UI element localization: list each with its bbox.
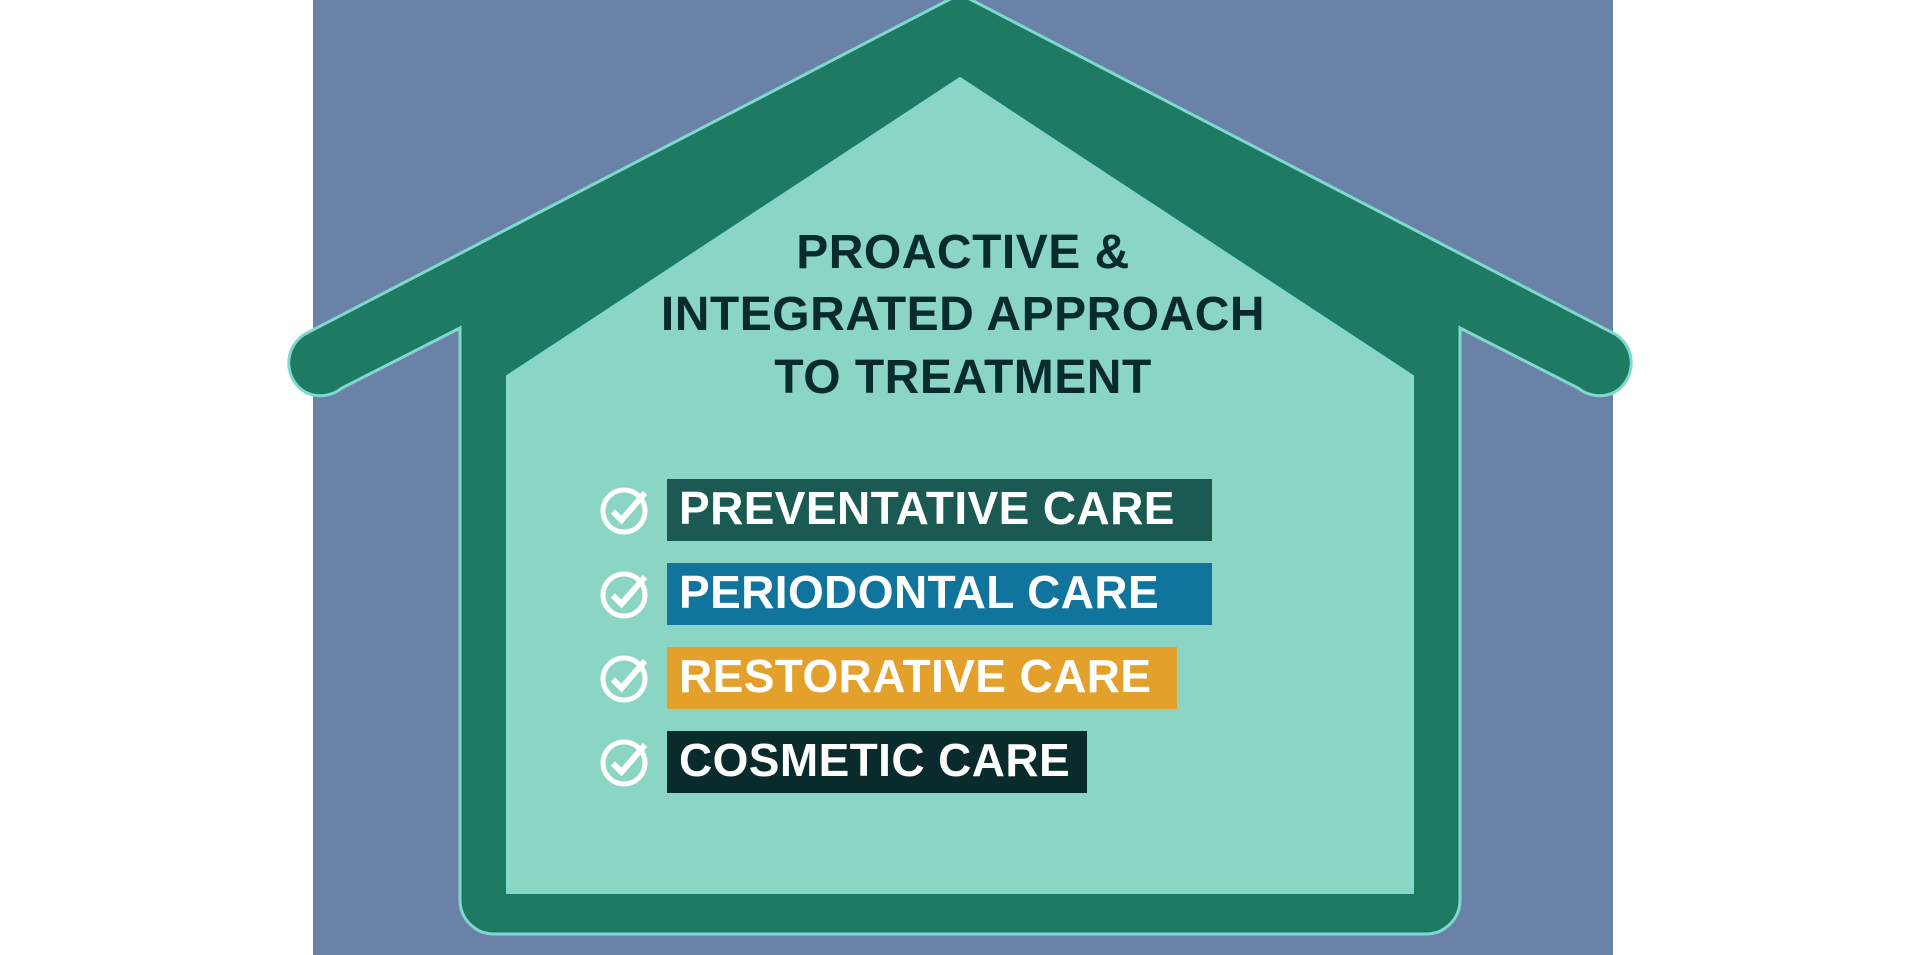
list-item[interactable]: PERIODONTAL CARE [313, 552, 1613, 636]
headline-line-3: TO TREATMENT [313, 347, 1613, 409]
service-label: PERIODONTAL CARE [679, 569, 1159, 615]
headline-line-1: PROACTIVE & [313, 222, 1613, 284]
list-item[interactable]: COSMETIC CARE [313, 720, 1613, 804]
service-bar: RESTORATIVE CARE [667, 647, 1177, 709]
service-list: PREVENTATIVE CARE PERIODONTAL CARE [313, 468, 1613, 804]
house-content: PROACTIVE & INTEGRATED APPROACH TO TREAT… [313, 0, 1613, 955]
service-label: PREVENTATIVE CARE [679, 485, 1175, 531]
list-item[interactable]: PREVENTATIVE CARE [313, 468, 1613, 552]
infographic-canvas: PROACTIVE & INTEGRATED APPROACH TO TREAT… [0, 0, 1920, 955]
headline-line-2: INTEGRATED APPROACH [313, 284, 1613, 346]
service-bar: PERIODONTAL CARE [667, 563, 1212, 625]
check-circle-icon [599, 735, 653, 789]
headline: PROACTIVE & INTEGRATED APPROACH TO TREAT… [313, 222, 1613, 409]
service-bar: PREVENTATIVE CARE [667, 479, 1212, 541]
check-circle-icon [599, 483, 653, 537]
check-circle-icon [599, 567, 653, 621]
check-circle-icon [599, 651, 653, 705]
list-item[interactable]: RESTORATIVE CARE [313, 636, 1613, 720]
service-label: COSMETIC CARE [679, 737, 1070, 783]
service-label: RESTORATIVE CARE [679, 653, 1151, 699]
service-bar: COSMETIC CARE [667, 731, 1087, 793]
